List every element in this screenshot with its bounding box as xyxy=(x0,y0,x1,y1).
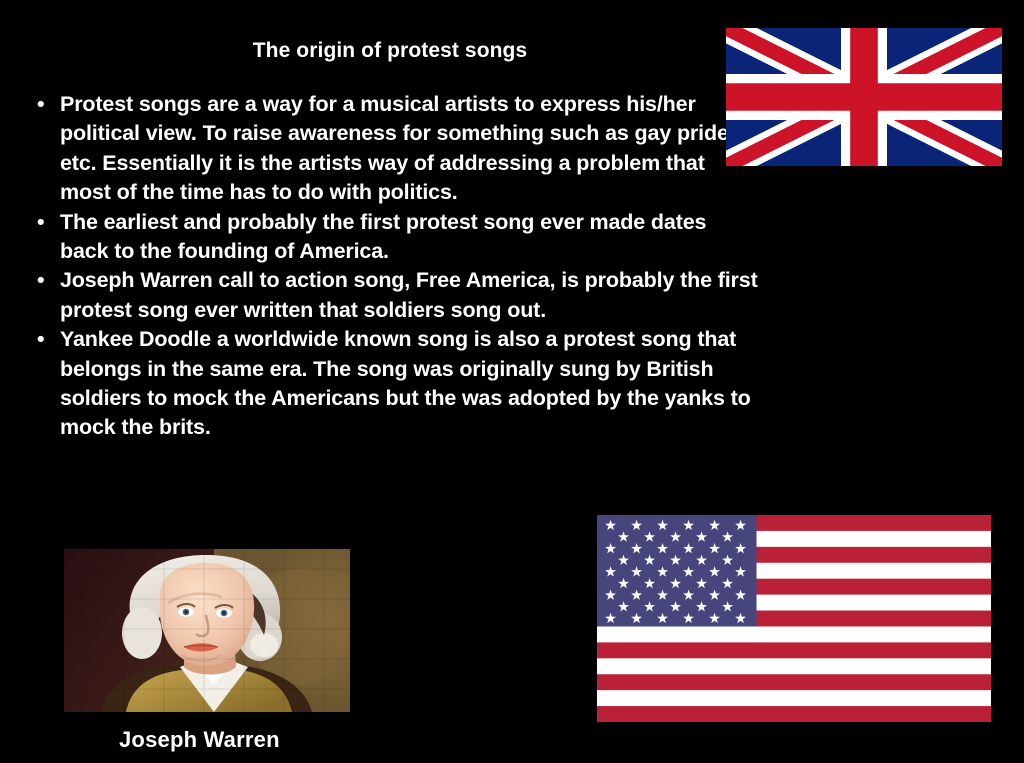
list-item: • Protest songs are a way for a musical … xyxy=(28,90,758,208)
list-item-text: Joseph Warren call to action song, Free … xyxy=(60,268,758,321)
list-item-text: Protest songs are a way for a musical ar… xyxy=(60,92,729,204)
bullet-point-icon: • xyxy=(37,90,53,119)
slide-canvas: The origin of protest songs • Protest so… xyxy=(0,0,1024,763)
list-item: • Joseph Warren call to action song, Fre… xyxy=(28,266,758,325)
joseph-warren-portrait-image xyxy=(64,549,350,712)
list-item-text: Yankee Doodle a worldwide known song is … xyxy=(60,327,751,439)
portrait-caption: Joseph Warren xyxy=(119,726,280,754)
united-kingdom-flag-image xyxy=(726,28,1002,166)
bullet-point-icon: • xyxy=(37,208,53,237)
list-item-text: The earliest and probably the first prot… xyxy=(60,210,706,263)
united-states-flag-image xyxy=(597,515,991,722)
stars-and-stripes-icon xyxy=(597,515,991,722)
list-item: • Yankee Doodle a worldwide known song i… xyxy=(28,325,758,443)
union-jack-icon xyxy=(726,28,1002,166)
page-title: The origin of protest songs xyxy=(0,38,780,64)
bullet-point-icon: • xyxy=(37,266,53,295)
list-item: • The earliest and probably the first pr… xyxy=(28,208,758,267)
bullet-point-icon: • xyxy=(37,325,53,354)
bullet-list: • Protest songs are a way for a musical … xyxy=(28,90,758,443)
portrait-painting xyxy=(64,549,350,712)
